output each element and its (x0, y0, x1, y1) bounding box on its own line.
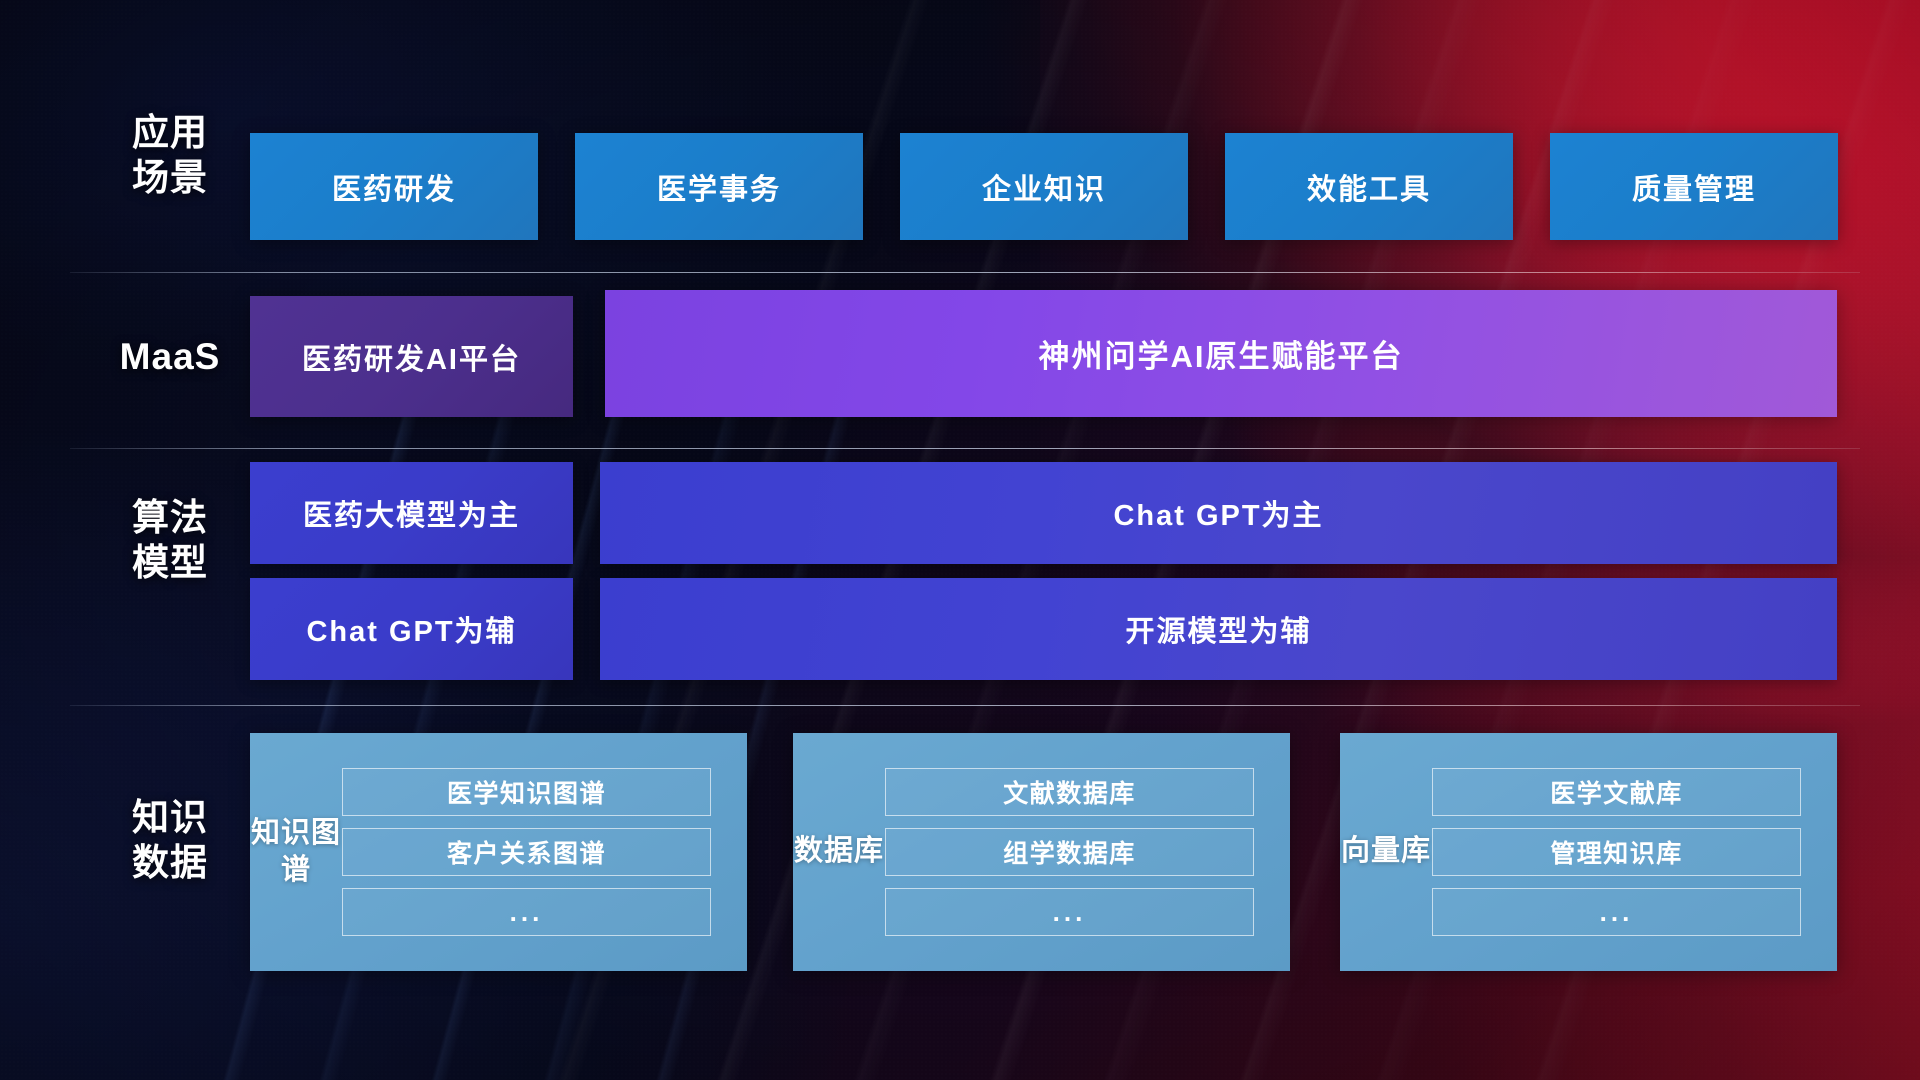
knowledge-panel-vector-items: 医学文献库 管理知识库 ... (1432, 768, 1837, 936)
slide-canvas: 应用 场景 医药研发 医学事务 企业知识 效能工具 质量管理 MaaS 医药研发… (0, 0, 1920, 1080)
knowledge-item-omics-db[interactable]: 组学数据库 (885, 828, 1254, 876)
maas-tile-medicine-ai-platform[interactable]: 医药研发AI平台 (250, 296, 573, 417)
architecture-diagram: 应用 场景 医药研发 医学事务 企业知识 效能工具 质量管理 MaaS 医药研发… (0, 0, 1920, 1080)
app-tile-medicine-rd[interactable]: 医药研发 (250, 133, 538, 240)
divider-maas-algorithm (70, 448, 1860, 449)
row-label-application-line1: 应用 (95, 110, 245, 155)
knowledge-panel-database-title: 数据库 (793, 833, 885, 870)
row-label-algorithm: 算法 模型 (95, 495, 245, 585)
algo-tile-medicine-llm-primary[interactable]: 医药大模型为主 (250, 462, 573, 564)
knowledge-panel-vector-title: 向量库 (1340, 833, 1432, 870)
knowledge-item-management-kb[interactable]: 管理知识库 (1432, 828, 1801, 876)
knowledge-item-database-more[interactable]: ... (885, 888, 1254, 936)
algo-tile-opensource-secondary[interactable]: 开源模型为辅 (600, 578, 1837, 680)
knowledge-panel-database-items: 文献数据库 组学数据库 ... (885, 768, 1290, 936)
algo-tile-chatgpt-primary[interactable]: Chat GPT为主 (600, 462, 1837, 564)
knowledge-item-medical-graph[interactable]: 医学知识图谱 (342, 768, 711, 816)
divider-algorithm-knowledge (70, 705, 1860, 706)
maas-tile-shenzhou-wenxue[interactable]: 神州问学AI原生赋能平台 (605, 290, 1837, 417)
row-label-application-line2: 场景 (95, 155, 245, 200)
knowledge-item-customer-graph[interactable]: 客户关系图谱 (342, 828, 711, 876)
app-tile-enterprise-knowledge[interactable]: 企业知识 (900, 133, 1188, 240)
app-tile-efficiency-tools[interactable]: 效能工具 (1225, 133, 1513, 240)
divider-application-maas (70, 272, 1860, 273)
knowledge-panel-graph[interactable]: 知识图谱 医学知识图谱 客户关系图谱 ... (250, 733, 747, 971)
knowledge-item-graph-more[interactable]: ... (342, 888, 711, 936)
row-label-maas: MaaS (95, 334, 245, 379)
knowledge-item-vector-more[interactable]: ... (1432, 888, 1801, 936)
row-label-knowledge-line2: 数据 (95, 840, 245, 885)
app-tile-quality-management[interactable]: 质量管理 (1550, 133, 1838, 240)
knowledge-panel-graph-items: 医学知识图谱 客户关系图谱 ... (342, 768, 747, 936)
row-label-algorithm-line1: 算法 (95, 495, 245, 540)
knowledge-item-medical-literature[interactable]: 医学文献库 (1432, 768, 1801, 816)
row-label-knowledge: 知识 数据 (95, 795, 245, 885)
knowledge-panel-graph-title: 知识图谱 (250, 815, 342, 889)
row-label-algorithm-line2: 模型 (95, 540, 245, 585)
knowledge-panel-vector[interactable]: 向量库 医学文献库 管理知识库 ... (1340, 733, 1837, 971)
knowledge-panel-database[interactable]: 数据库 文献数据库 组学数据库 ... (793, 733, 1290, 971)
row-label-knowledge-line1: 知识 (95, 795, 245, 840)
row-label-application: 应用 场景 (95, 110, 245, 200)
knowledge-item-literature-db[interactable]: 文献数据库 (885, 768, 1254, 816)
algo-tile-chatgpt-secondary[interactable]: Chat GPT为辅 (250, 578, 573, 680)
app-tile-medical-affairs[interactable]: 医学事务 (575, 133, 863, 240)
